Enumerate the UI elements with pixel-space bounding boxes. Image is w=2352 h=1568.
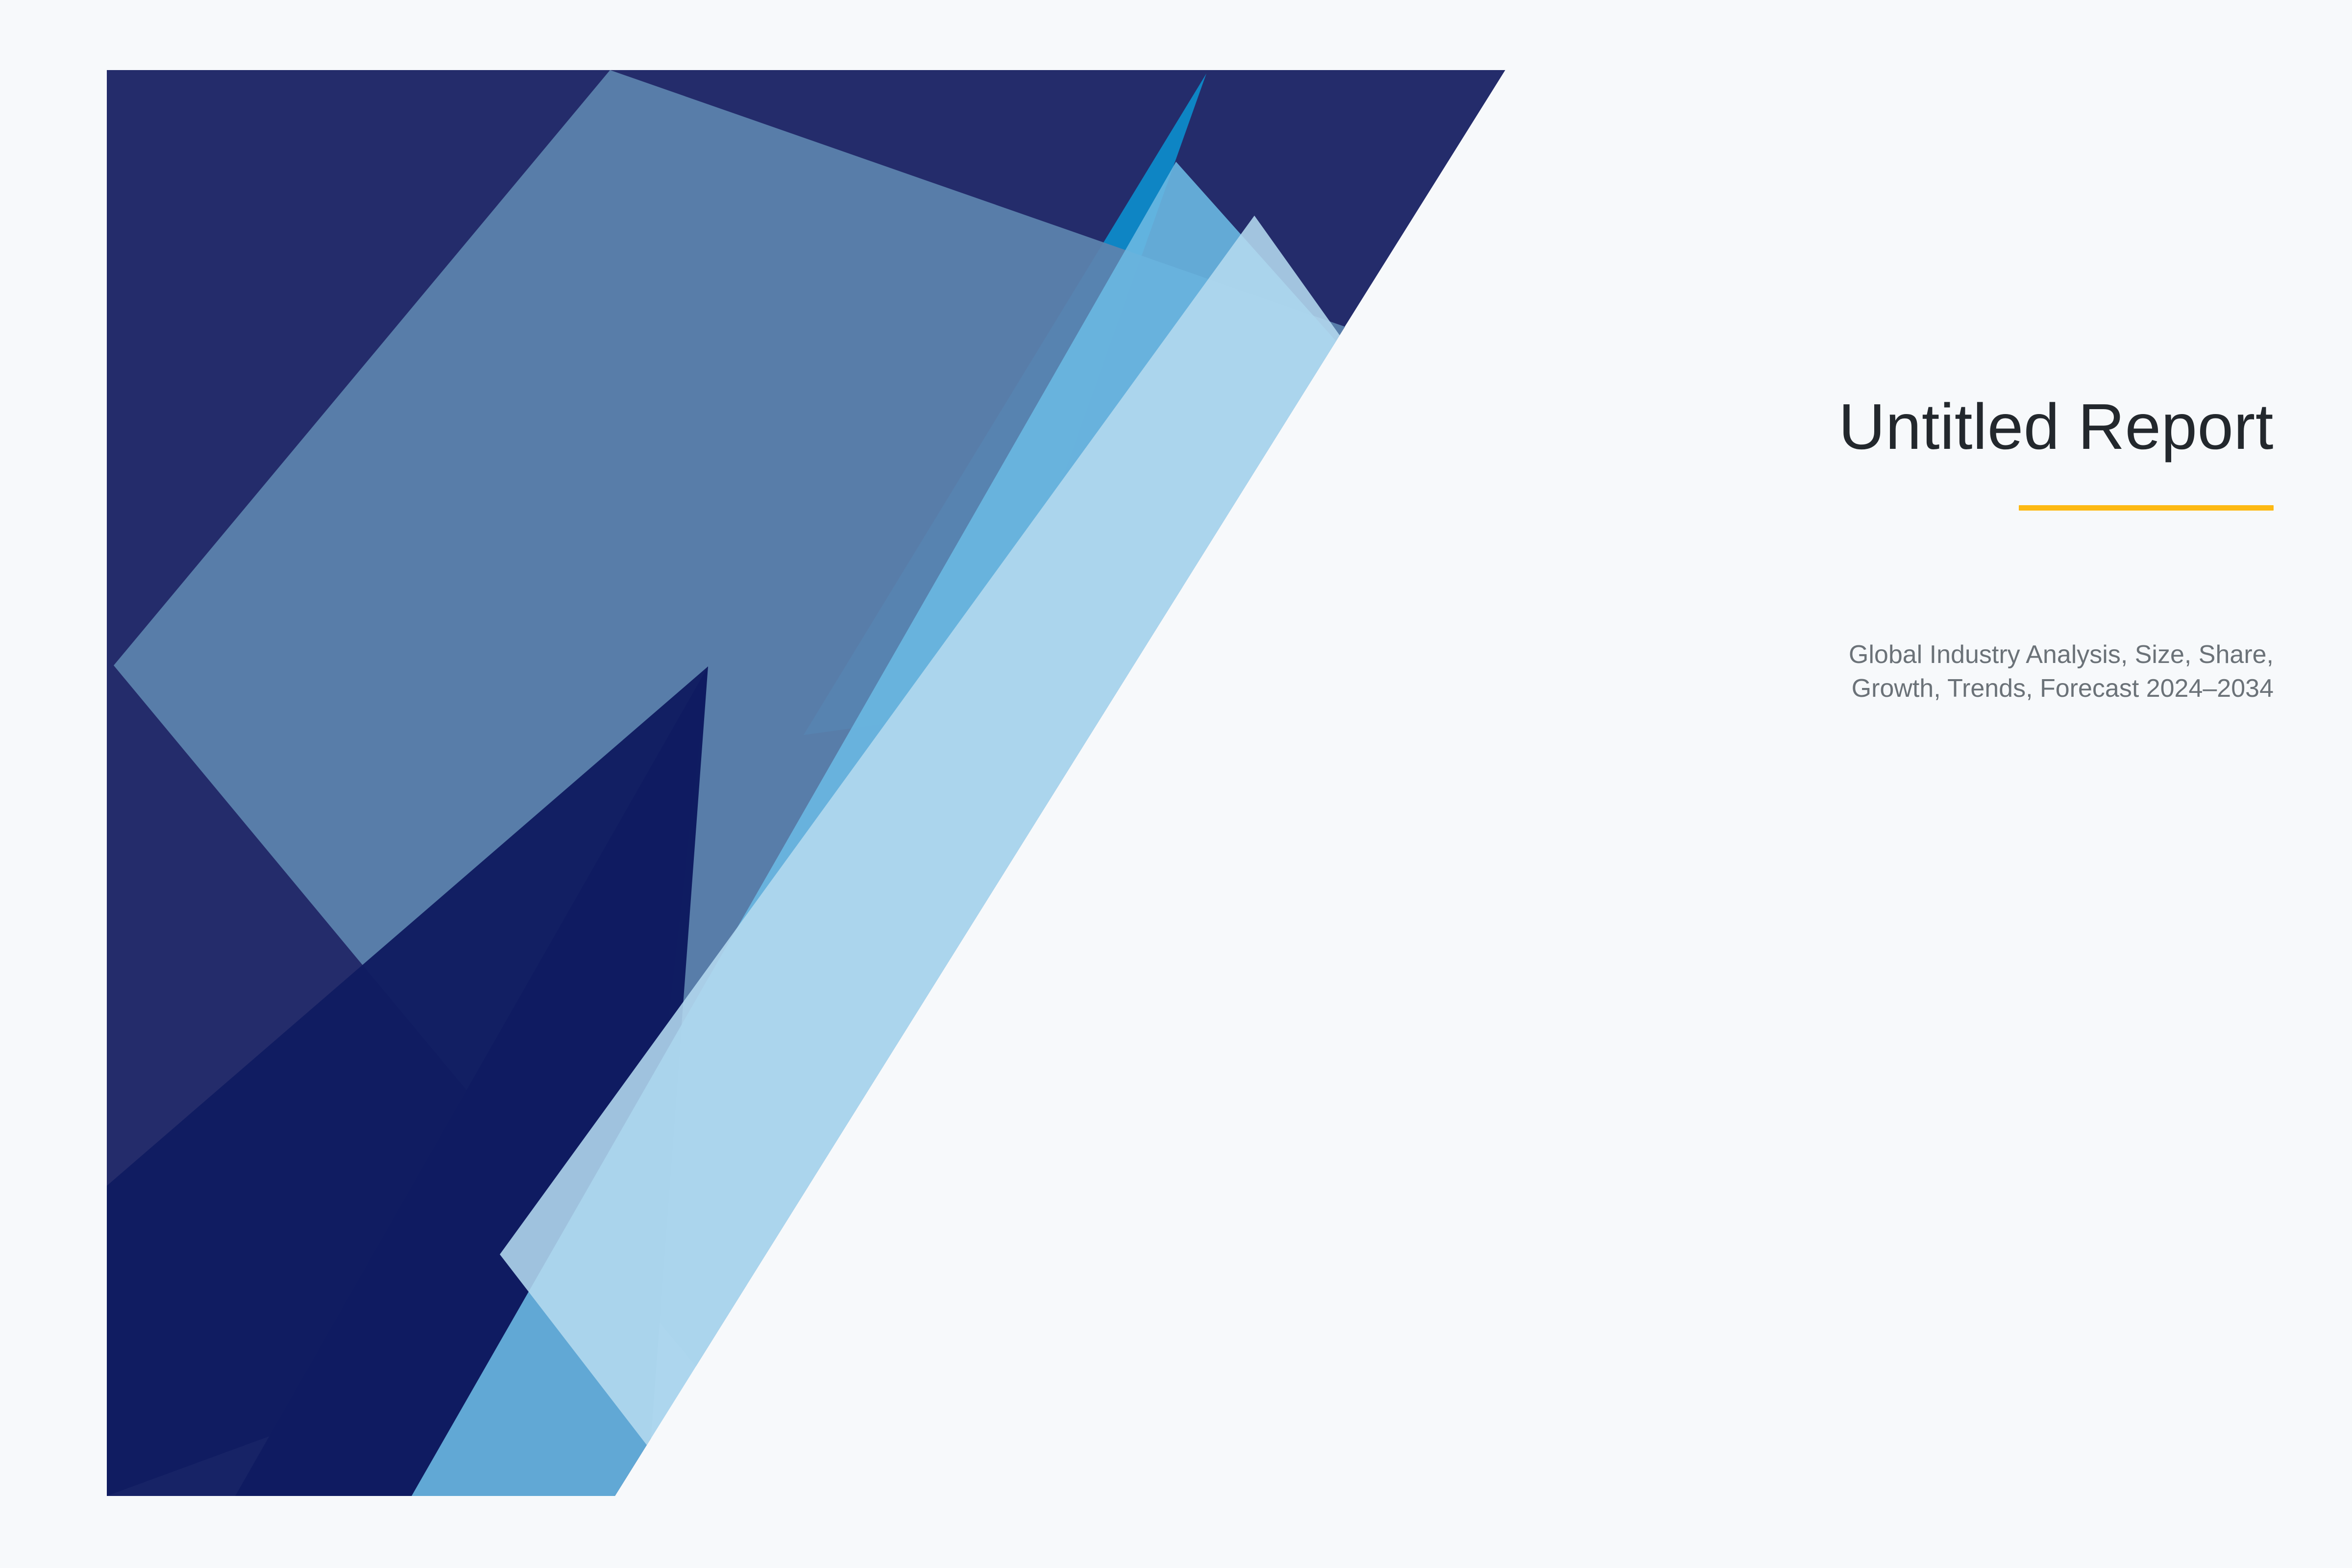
deep-navy-spike-shape xyxy=(235,666,708,1496)
title-accent-rule xyxy=(2019,505,2274,511)
report-subtitle: Global Industry Analysis, Size, Share, G… xyxy=(1651,638,2274,706)
deep-navy-base-shape xyxy=(107,666,708,1496)
cover-text-block: Untitled Report Global Industry Analysis… xyxy=(1588,0,2274,1568)
steel-blue-parallelogram-shape xyxy=(114,70,1392,1496)
sky-blue-band-shape xyxy=(412,162,1460,1496)
navy-wedge-upper-shape xyxy=(107,70,1505,1496)
artwork-svg xyxy=(0,0,1568,1568)
cyan-sliver-spike-shape xyxy=(804,73,1206,735)
cover-artwork xyxy=(0,0,1568,1568)
page-title: Untitled Report xyxy=(1588,392,2274,462)
cover-page: Untitled Report Global Industry Analysis… xyxy=(0,0,2352,1568)
pale-blue-panel-shape xyxy=(500,216,1406,1496)
cyan-field-shape xyxy=(107,70,1102,637)
